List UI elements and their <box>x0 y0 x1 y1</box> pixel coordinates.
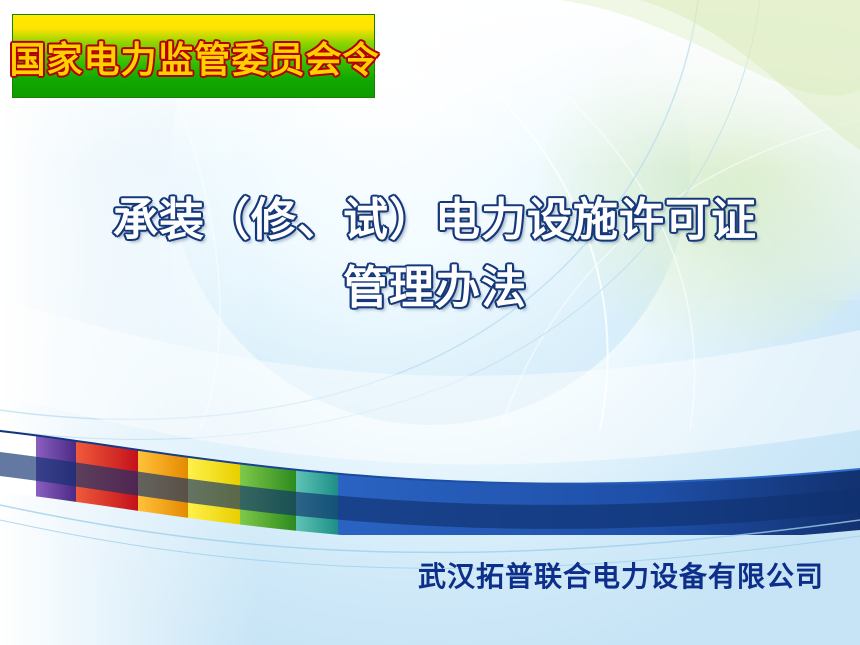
company-name: 武汉拓普联合电力设备有限公司 <box>418 555 824 595</box>
header-banner: 国家电力监管委员会令 <box>12 14 375 98</box>
slide-title-line-2: 管理办法 <box>40 258 830 318</box>
presentation-slide: 国家电力监管委员会令 承装（修、试）电力设施许可证 管理办法 武汉拓普联合电力设… <box>0 0 860 645</box>
header-banner-text: 国家电力监管委员会令 <box>13 15 376 99</box>
slide-title-line-1: 承装（修、试）电力设施许可证 <box>40 190 830 250</box>
slide-title: 承装（修、试）电力设施许可证 管理办法 <box>40 190 830 318</box>
